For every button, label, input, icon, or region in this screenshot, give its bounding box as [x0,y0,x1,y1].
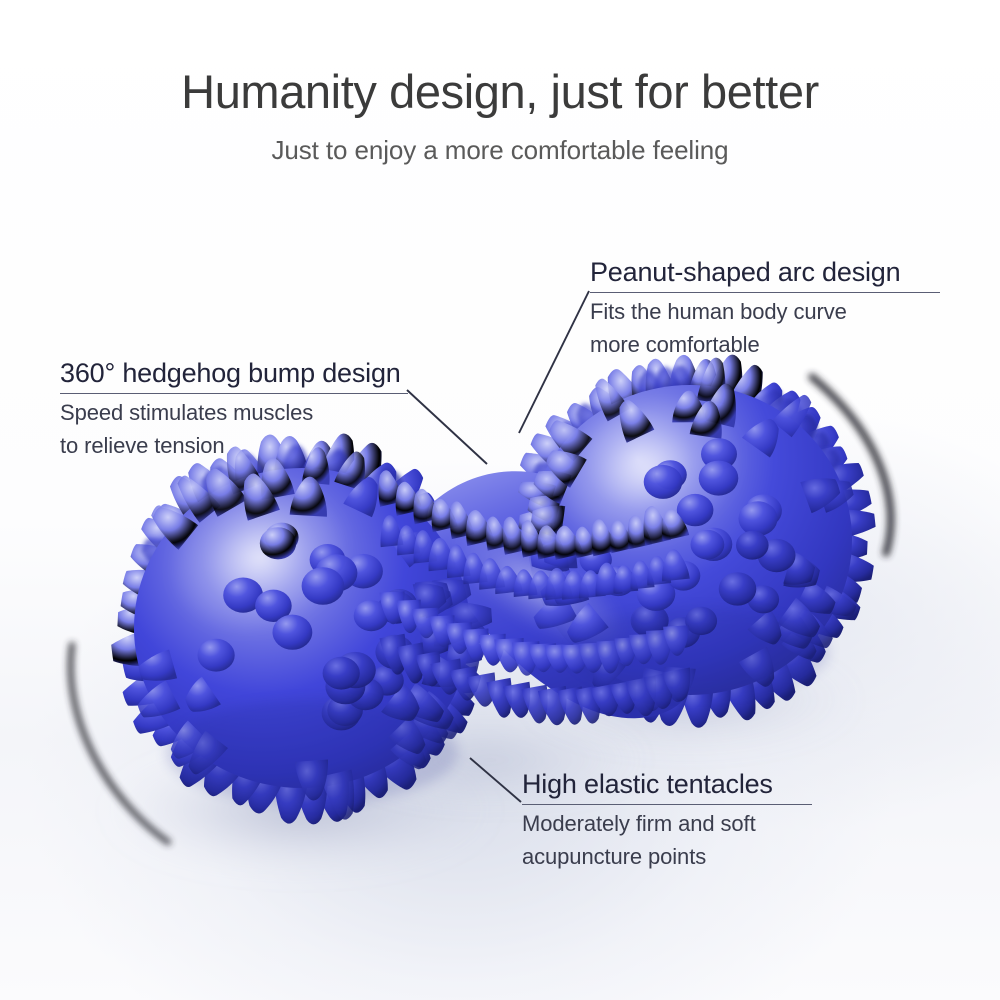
callout-hedgehog-body-line2: to relieve tension [60,427,408,460]
callout-peanut-body-line1: Fits the human body curve [590,293,940,326]
callout-tentacles: High elastic tentacles Moderately firm a… [522,769,812,871]
header: Humanity design, just for better Just to… [0,0,1000,166]
infographic-page: Humanity design, just for better Just to… [0,0,1000,1000]
callout-peanut-heading: Peanut-shaped arc design [590,257,940,289]
callout-hedgehog-heading: 360° hedgehog bump design [60,358,408,390]
callout-hedgehog-body-line1: Speed stimulates muscles [60,394,408,427]
callout-tentacles-body-line1: Moderately firm and soft [522,805,812,838]
page-subtitle: Just to enjoy a more comfortable feeling [0,119,1000,166]
callout-tentacles-heading: High elastic tentacles [522,769,812,801]
callout-tentacles-body-line2: acupuncture points [522,838,812,871]
page-title: Humanity design, just for better [0,0,1000,119]
callout-peanut: Peanut-shaped arc design Fits the human … [590,257,940,359]
callout-hedgehog: 360° hedgehog bump design Speed stimulat… [60,358,408,460]
callout-peanut-body-line2: more comfortable [590,326,940,359]
